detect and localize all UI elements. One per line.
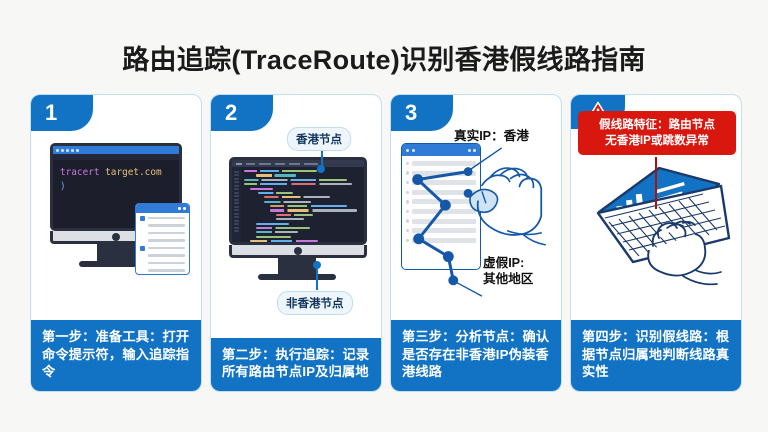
- text-line: [148, 262, 185, 265]
- monitor-button-icon: [112, 233, 120, 241]
- window-dot-icon: [183, 207, 186, 210]
- step-number-badge-1: 1: [31, 95, 93, 131]
- card-4-illustration: 假线路特征：路由节点 无香港IP或跳数异常: [571, 95, 741, 320]
- label-fake-ip: 虚假IP: 其他地区: [483, 255, 533, 288]
- document-row: [136, 251, 189, 259]
- code-editor-monitor-icon: [229, 157, 367, 245]
- terminal-command-arg: target.com: [100, 167, 162, 178]
- spacer: [140, 253, 145, 258]
- editor-code-lines: [241, 167, 364, 242]
- step-caption-1: 第一步：准备工具：打开命令提示符，输入追踪指令: [31, 320, 201, 391]
- step-card-4[interactable]: 假线路特征：路由节点 无香港IP或跳数异常: [570, 94, 742, 392]
- spacer: [140, 261, 145, 266]
- checkbox-icon: [140, 216, 145, 221]
- monitor-button-icon: [294, 247, 302, 255]
- editor-line-numbers: [232, 167, 241, 242]
- label-non-hongkong-node: 非香港节点: [277, 291, 353, 315]
- terminal-titlebar: [53, 146, 179, 154]
- document-row: [136, 213, 189, 221]
- text-line: [148, 232, 185, 235]
- document-panel-header: [136, 204, 189, 213]
- step-card-2[interactable]: 2 香港节点: [210, 94, 382, 392]
- document-row: [136, 243, 189, 251]
- document-row: [136, 228, 189, 236]
- node-dot-bottom: [313, 261, 321, 269]
- spacer: [140, 223, 145, 228]
- monitor-base: [258, 274, 336, 280]
- label-fake-ip-line1: 虚假IP:: [483, 255, 533, 271]
- step-card-1[interactable]: 1 tracert target.com ): [30, 94, 202, 392]
- node-dot-top: [317, 165, 325, 173]
- label-fake-ip-line2: 其他地区: [483, 271, 533, 287]
- step-caption-2: 第二步：执行追踪：记录所有路由节点IP及归属地: [211, 338, 381, 391]
- spacer: [140, 268, 145, 273]
- editor-body: [232, 167, 364, 242]
- window-dot-icon: [76, 149, 79, 152]
- infographic-page: 路由追踪(TraceRoute)识别香港假线路指南 1 tracert targ…: [0, 0, 768, 432]
- terminal-command-line: tracert target.com: [60, 167, 179, 178]
- card-2-illustration: 香港节点: [211, 95, 381, 338]
- step-caption-4: 第四步：识别假线路：根据节点归属地判断线路真实性: [571, 320, 741, 391]
- text-line: [148, 247, 185, 250]
- window-dot-icon: [61, 149, 64, 152]
- window-dot-icon: [66, 149, 69, 152]
- text-line: [148, 239, 185, 242]
- window-dot-icon: [71, 149, 74, 152]
- document-panel-icon: [135, 203, 190, 275]
- step-cards-container: 1 tracert target.com ): [30, 94, 742, 392]
- connector-line-bottom: [316, 268, 318, 290]
- monitor-bezel: [229, 245, 367, 258]
- text-line: [148, 254, 185, 257]
- document-row: [136, 258, 189, 266]
- spacer: [140, 238, 145, 243]
- step-number-badge-3: 3: [391, 95, 453, 131]
- text-line: [148, 224, 185, 227]
- monitor-neck: [97, 244, 135, 261]
- label-real-ip: 真实IP：香港: [454, 125, 529, 144]
- step-caption-3: 第三步：分析节点：确认是否存在非香港IP伪装香港线路: [391, 320, 561, 391]
- window-dot-icon: [56, 149, 59, 152]
- page-title: 路由追踪(TraceRoute)识别香港假线路指南: [0, 38, 768, 77]
- checkbox-icon: [140, 246, 145, 251]
- terminal-prompt: ): [60, 181, 179, 192]
- monitor-neck: [278, 258, 316, 274]
- text-line: [148, 269, 185, 272]
- editor-toolbar: [232, 160, 364, 167]
- document-row: [136, 221, 189, 229]
- text-line: [148, 217, 185, 220]
- step-card-3[interactable]: 3: [390, 94, 562, 392]
- window-dot-icon: [178, 207, 181, 210]
- alert-line-1: 假线路特征：路由节点: [583, 117, 731, 133]
- alert-line-2: 无香港IP或跳数异常: [583, 133, 731, 149]
- terminal-command-name: tracert: [60, 167, 100, 178]
- spacer: [140, 231, 145, 236]
- document-row: [136, 266, 189, 274]
- alert-pointer-line: [655, 157, 657, 209]
- alert-box: 假线路特征：路由节点 无香港IP或跳数异常: [578, 111, 736, 155]
- step-number-badge-2: 2: [211, 95, 273, 131]
- label-hongkong-node: 香港节点: [287, 127, 351, 151]
- document-row: [136, 236, 189, 244]
